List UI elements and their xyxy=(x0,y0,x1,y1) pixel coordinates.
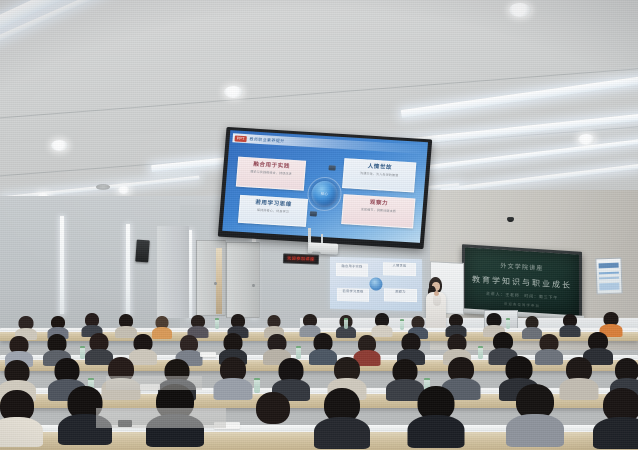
ceiling-downlight-1 xyxy=(509,3,531,17)
student-shoulders xyxy=(214,378,253,400)
water-bottle xyxy=(478,346,483,359)
student-shoulders xyxy=(408,415,465,448)
slide-quadrant-bottom-left: 若用学习思维 保持好奇心，终身学习 xyxy=(238,195,308,227)
poster-band-4 xyxy=(599,283,620,291)
wall-notice-poster[interactable] xyxy=(595,258,622,295)
student xyxy=(116,314,136,336)
ceiling-downlight-3 xyxy=(51,140,68,151)
slide-quadrant-top-left: 融合用于实践 理论与实践相结合，持续改进 xyxy=(236,157,306,191)
student xyxy=(536,334,562,364)
ceiling-projector xyxy=(308,242,339,255)
water-bottle xyxy=(400,319,404,330)
lecturer-hand xyxy=(434,291,439,296)
student xyxy=(188,315,208,336)
poster-band-3 xyxy=(599,277,620,280)
student xyxy=(216,357,250,398)
slide-icon-top-right xyxy=(328,165,335,170)
led-sign-text: 欢迎参加讲座 xyxy=(287,256,315,263)
slide-center-label: 核心 xyxy=(321,191,329,196)
student-shoulders xyxy=(560,325,581,337)
ceiling-vent-1 xyxy=(96,184,110,190)
water-bottle xyxy=(344,318,348,329)
ceiling-downlight-6 xyxy=(118,186,130,194)
student xyxy=(264,315,284,336)
student xyxy=(152,316,172,336)
slide-icon-bottom-left xyxy=(310,211,317,216)
student-shoulders xyxy=(560,378,599,400)
student xyxy=(318,388,366,446)
student xyxy=(250,392,296,446)
projection-label: 人情世故 xyxy=(384,263,415,269)
student-shoulders xyxy=(593,417,638,449)
water-bottle xyxy=(215,318,219,329)
student-shoulders xyxy=(314,417,370,449)
student xyxy=(372,313,392,336)
presentation-screen[interactable]: PPT 教师职业素养提升 融合用于实践 理论与实践相结合，持续改进 人情世故 沟… xyxy=(218,127,432,249)
student xyxy=(522,316,542,336)
student xyxy=(412,386,460,446)
lecture-hall-photo: PPT 教师职业素养提升 融合用于实践 理论与实践相结合，持续改进 人情世故 沟… xyxy=(0,0,638,450)
notebook xyxy=(200,352,216,357)
wall-projection: 融合用于实践 人情世故 若用学习思维 观察力 xyxy=(330,257,422,312)
wall-light-column-2 xyxy=(126,224,130,316)
chalkboard-line-2: 教育学知识与职业成长 xyxy=(465,273,579,291)
slide-header-tag: PPT xyxy=(234,135,246,142)
slide-quadrant-top-right: 人情世故 沟通交往，为人处世的智慧 xyxy=(342,158,416,192)
aisle-step-1 xyxy=(96,408,226,428)
projection-quadrant-top-left: 融合用于实践 xyxy=(336,263,368,277)
projection-label: 若用学习思维 xyxy=(338,289,368,295)
student-shoulders xyxy=(535,349,563,365)
aisle-step-2 xyxy=(106,376,202,390)
wall-speaker-icon xyxy=(135,240,150,263)
student xyxy=(446,314,466,336)
board-camera-icon xyxy=(507,217,514,222)
student xyxy=(596,388,638,446)
ceiling-downlight-4 xyxy=(578,134,595,145)
door-handle-right[interactable] xyxy=(252,284,255,287)
student xyxy=(82,313,102,335)
student-shoulders xyxy=(247,419,299,449)
poster-band-2 xyxy=(599,272,620,275)
slide-quadrant-bottom-right: 观察力 发现细节，洞察问题本质 xyxy=(341,194,415,228)
door-handle-left[interactable] xyxy=(214,282,217,285)
wall-light-column-1 xyxy=(60,216,64,314)
door-right[interactable] xyxy=(226,242,260,318)
projection-quadrant-top-right: 人情世故 xyxy=(383,262,416,276)
student xyxy=(0,390,40,446)
student xyxy=(510,384,560,446)
door-open-gap xyxy=(216,248,222,314)
ceiling-downlight-2 xyxy=(224,86,243,98)
projection-center-orb-icon xyxy=(370,277,383,290)
projection-quadrant-bottom-right: 观察力 xyxy=(384,288,417,302)
wall-pillar xyxy=(157,226,189,318)
student xyxy=(562,357,596,398)
projection-label: 融合用于实践 xyxy=(337,264,367,270)
student xyxy=(16,316,36,336)
tv-screen-surface: PPT 教师职业素养提升 融合用于实践 理论与实践相结合，持续改进 人情世故 沟… xyxy=(222,130,428,243)
poster-band-1 xyxy=(598,263,619,269)
projection-quadrant-bottom-left: 若用学习思维 xyxy=(337,288,369,302)
water-bottle xyxy=(254,378,260,393)
student-shoulders xyxy=(0,417,43,447)
water-bottle xyxy=(506,318,510,329)
slide-quadrant-grid: 融合用于实践 理论与实践相结合，持续改进 人情世故 沟通交往，为人处世的智慧 若… xyxy=(222,142,427,243)
chalkboard-line-1: 外文学院讲座 xyxy=(465,258,579,274)
student-shoulders xyxy=(506,414,564,447)
student xyxy=(48,316,68,336)
student xyxy=(560,314,580,336)
led-marquee-sign: 欢迎参加讲座 xyxy=(283,253,319,264)
projection-label: 观察力 xyxy=(385,289,416,295)
